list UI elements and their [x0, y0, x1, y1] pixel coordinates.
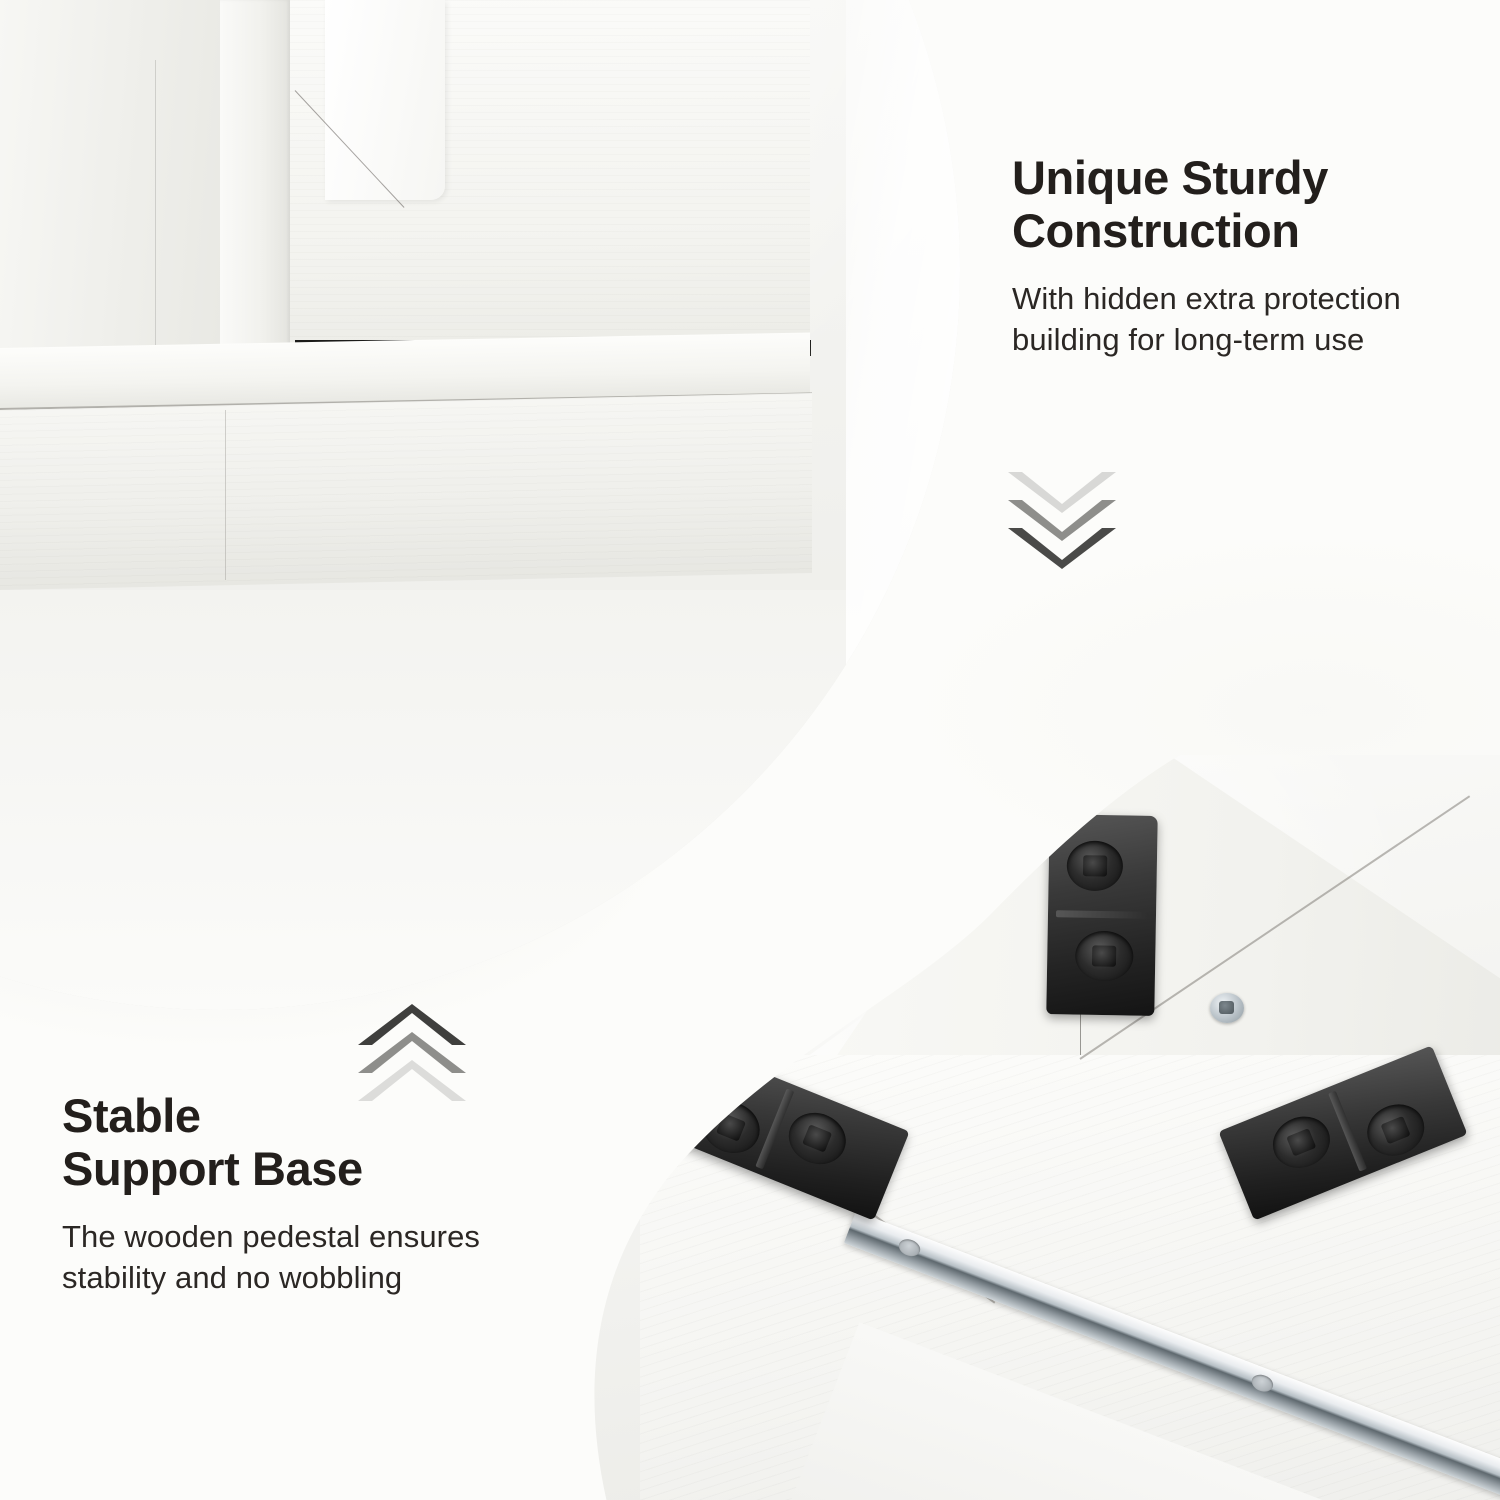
photo-floor-area — [0, 590, 960, 1010]
photo-backdrop — [0, 0, 960, 1010]
headline-line-2: Construction — [1012, 205, 1464, 258]
bracket-screw-cup — [781, 1104, 854, 1172]
cabinet-left-panel — [0, 0, 220, 355]
headline-line-2: Support Base — [62, 1143, 532, 1196]
cabinet-recessed-panel — [325, 0, 445, 200]
plinth-corner-line — [225, 410, 226, 580]
feature-headline: Unique Sturdy Construction — [1012, 152, 1464, 257]
corner-bracket-apex — [1046, 814, 1157, 1016]
slide-mounting-hole — [896, 1236, 922, 1259]
chevron-double-down-icon — [1008, 472, 1116, 556]
cabinet-base-corner-photo — [0, 0, 960, 1010]
bracket-ridge — [1056, 910, 1148, 919]
bracket-screw-cup — [1265, 1108, 1338, 1176]
bracket-screw-cup — [1066, 840, 1123, 891]
bracket-screw-cup — [695, 1093, 768, 1161]
feature-body-text: The wooden pedestal ensures stability an… — [62, 1217, 532, 1299]
bracket-screw-cup — [1075, 931, 1134, 982]
feature-headline: Stable Support Base — [62, 1090, 532, 1195]
feature-block-construction: Unique Sturdy Construction With hidden e… — [1012, 152, 1464, 361]
feature-block-support-base: Stable Support Base The wooden pedestal … — [62, 1090, 532, 1299]
metal-screw — [1210, 993, 1244, 1023]
slide-mounting-hole — [1249, 1372, 1275, 1395]
bracket-ridge — [755, 1088, 794, 1169]
cabinet-plinth-block — [0, 393, 812, 590]
bracket-ridge — [1328, 1091, 1367, 1172]
headline-line-1: Unique Sturdy — [1012, 152, 1464, 205]
cabinet-vertical-stile — [220, 0, 290, 355]
feature-body-text: With hidden extra protection building fo… — [1012, 279, 1464, 361]
plinth-grain-texture — [0, 393, 812, 590]
chevron-double-up-icon — [358, 1004, 466, 1088]
infographic-canvas: Unique Sturdy Construction With hidden e… — [0, 0, 1500, 1500]
